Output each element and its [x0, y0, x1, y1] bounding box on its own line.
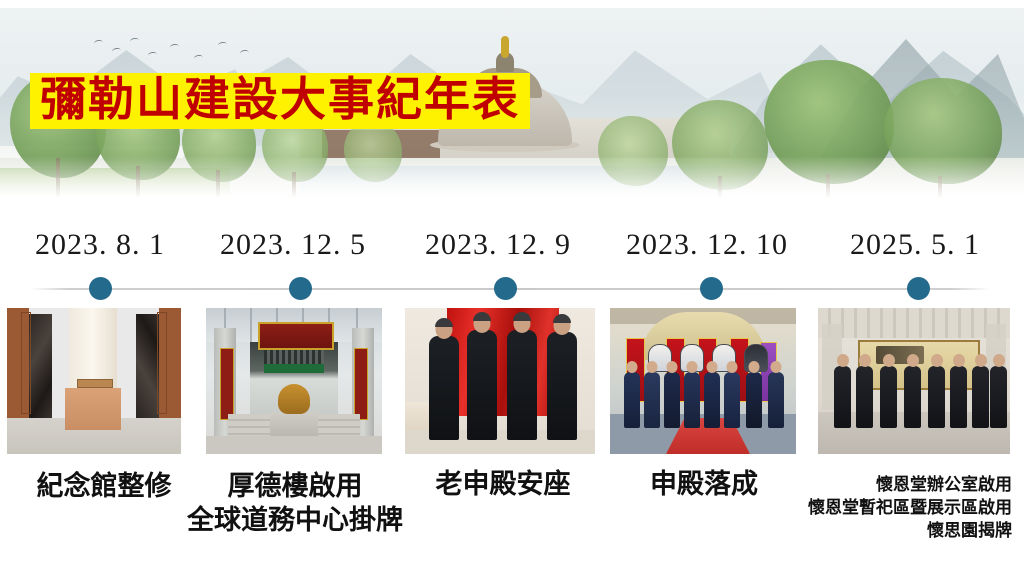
timeline-photo-5[interactable]: [818, 308, 1010, 454]
birds-flock-icon: [90, 36, 270, 66]
timeline-marker-dot: [907, 277, 930, 300]
timeline-marker-dot: [89, 277, 112, 300]
caption-line: 全球道務中心掛牌: [150, 504, 440, 538]
timeline-photo-1[interactable]: [7, 308, 181, 454]
timeline-date-5: 2025. 5. 1: [830, 228, 1000, 262]
slide-title: 彌勒山建設大事紀年表: [30, 73, 530, 129]
timeline-marker-dot: [494, 277, 517, 300]
tree-shape: [598, 116, 668, 186]
caption-line: 老申殿安座: [408, 468, 598, 502]
timeline-caption-2: 厚德樓啟用 全球道務中心掛牌: [150, 470, 440, 538]
timeline-photo-2[interactable]: [206, 308, 382, 454]
timeline-photo-4[interactable]: [610, 308, 796, 454]
tree-shape: [344, 120, 402, 182]
timeline-date-1: 2023. 8. 1: [10, 228, 190, 262]
timeline-marker-dot: [289, 277, 312, 300]
timeline-marker-dot: [700, 277, 723, 300]
timeline-caption-3: 老申殿安座: [408, 468, 598, 502]
slide-canvas: 彌勒山建設大事紀年表 2023. 8. 1 2023. 12. 5 2023. …: [0, 0, 1024, 576]
timeline-date-2: 2023. 12. 5: [203, 228, 383, 262]
caption-line: 懷恩堂辦公室啟用: [740, 474, 1012, 497]
caption-line: 厚德樓啟用: [150, 470, 440, 504]
timeline-date-3: 2023. 12. 9: [408, 228, 588, 262]
slide-title-text: 彌勒山建設大事紀年表: [40, 76, 520, 122]
timeline-caption-5: 懷恩堂辦公室啟用 懷恩堂暫祀區暨展示區啟用 懷思園揭牌: [740, 474, 1012, 543]
timeline-date-4: 2023. 12. 10: [608, 228, 806, 262]
caption-line: 懷思園揭牌: [740, 520, 1012, 543]
timeline-photo-3[interactable]: [405, 308, 595, 454]
caption-line: 懷恩堂暫祀區暨展示區啟用: [740, 497, 1012, 520]
